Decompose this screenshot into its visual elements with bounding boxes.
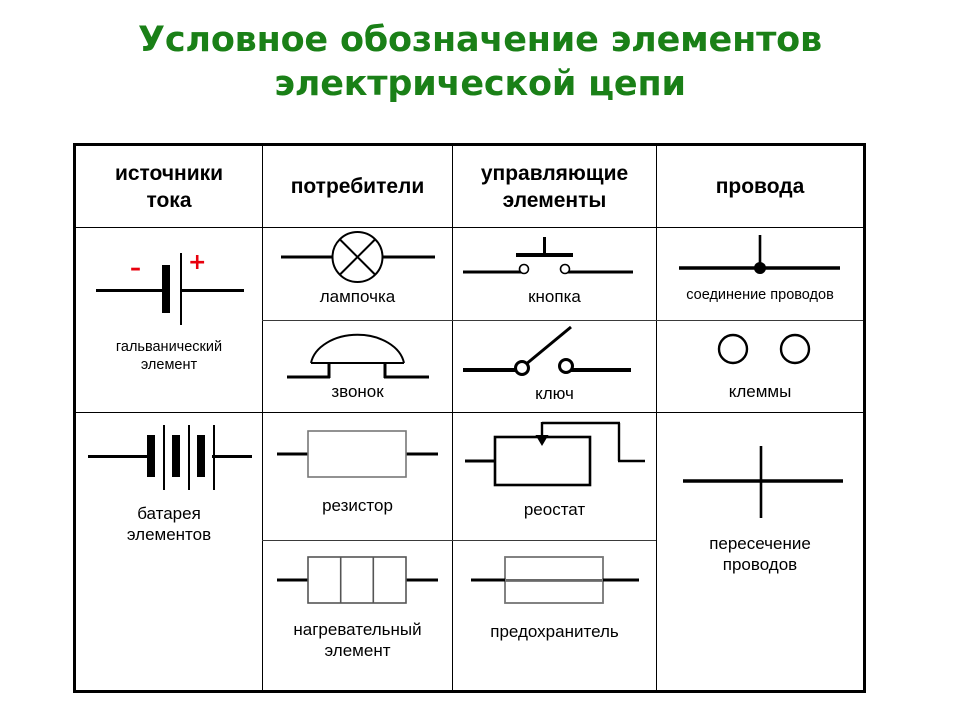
galvanic-element-symbol: – +: [76, 228, 262, 338]
battery-plate-thin-1: [163, 425, 165, 490]
resistor-icon: [263, 413, 452, 495]
cell-resistor: резистор: [263, 413, 452, 540]
fuse-caption-1: предохранитель: [453, 621, 656, 642]
battery-caption-2: элементов: [76, 524, 262, 545]
rheostat-icon: [453, 413, 656, 499]
galvanic-element-caption-2: элемент: [76, 356, 262, 374]
terminals-symbol: [657, 321, 863, 381]
wire-junction-caption-1: соединение проводов: [657, 286, 863, 304]
galvanic-lead-left: [96, 289, 162, 292]
header-label-current-sources-2: тока: [115, 187, 223, 214]
header-label-control-elements-1: управляющие: [481, 160, 628, 187]
header-label-wires-1: провода: [716, 173, 805, 200]
key-switch-icon: [453, 321, 656, 383]
galvanic-negative-plate: [162, 265, 170, 313]
battery-symbol: [76, 413, 262, 503]
cell-fuse: предохранитель: [453, 541, 656, 693]
resistor-caption-1: резистор: [263, 495, 452, 516]
resistor-symbol: [263, 413, 452, 495]
cell-heating-element: нагревательный элемент: [263, 541, 452, 693]
cell-wire-junction: соединение проводов: [657, 228, 863, 320]
page-title: Условное обозначение элементов электриче…: [0, 18, 960, 106]
wire-crossing-symbol: [657, 413, 863, 533]
cell-rheostat: реостат: [453, 413, 656, 540]
galvanic-lead-right: [182, 289, 244, 292]
galvanic-element-caption-1: гальванический: [76, 338, 262, 356]
header-cell-consumers: потребители: [263, 146, 452, 227]
battery-caption-1: батарея: [76, 503, 262, 524]
cell-lamp: лампочка: [263, 228, 452, 320]
heating-element-symbol: [263, 541, 452, 619]
lamp-symbol: [263, 228, 452, 286]
push-button-icon: [453, 228, 656, 286]
header-cell-control-elements: управляющие элементы: [453, 146, 656, 227]
header-label-current-sources-1: источники: [115, 160, 223, 187]
cell-galvanic-element: – + гальванический элемент: [76, 228, 262, 412]
cell-wire-crossing: пересечение проводов: [657, 413, 863, 693]
wire-crossing-caption-1: пересечение: [657, 533, 863, 554]
button-symbol: [453, 228, 656, 286]
page-title-line-1: Условное обозначение элементов: [0, 18, 960, 62]
lamp-caption-1: лампочка: [263, 286, 452, 307]
cell-key-switch: ключ: [453, 321, 656, 412]
rheostat-caption-1: реостат: [453, 499, 656, 520]
header-cell-current-sources: источники тока: [76, 146, 262, 227]
minus-sign: –: [130, 258, 141, 280]
heating-element-icon: [263, 541, 452, 619]
cell-battery: батарея элементов: [76, 413, 262, 693]
rheostat-symbol: [453, 413, 656, 499]
battery-lead-left: [88, 455, 148, 458]
bell-icon: [263, 321, 452, 381]
bell-symbol: [263, 321, 452, 381]
plus-sign: +: [188, 252, 206, 274]
bell-caption-1: звонок: [263, 381, 452, 402]
key-caption-1: ключ: [453, 383, 656, 404]
battery-plate-thick-1: [147, 435, 155, 477]
cell-bell: звонок: [263, 321, 452, 412]
wire-crossing-caption-2: проводов: [657, 554, 863, 575]
wire-junction-symbol: [657, 228, 863, 286]
heating-element-caption-2: элемент: [263, 640, 452, 661]
page-title-line-2: электрической цепи: [0, 62, 960, 106]
key-symbol: [453, 321, 656, 383]
cell-button-switch: кнопка: [453, 228, 656, 320]
terminals-caption-1: клеммы: [657, 381, 863, 402]
battery-plate-thick-2: [172, 435, 180, 477]
cell-terminals: клеммы: [657, 321, 863, 412]
fuse-symbol: [453, 541, 656, 621]
lamp-icon: [263, 228, 452, 286]
fuse-icon: [453, 541, 656, 621]
button-caption-1: кнопка: [453, 286, 656, 307]
wire-crossing-icon: [657, 413, 863, 533]
heating-element-caption-1: нагревательный: [263, 619, 452, 640]
terminals-icon: [657, 321, 863, 381]
battery-lead-right: [212, 455, 252, 458]
symbols-table: источники тока потребители управляющие э…: [73, 143, 866, 693]
header-label-control-elements-2: элементы: [481, 187, 628, 214]
wire-junction-icon: [657, 228, 863, 286]
battery-plate-thick-3: [197, 435, 205, 477]
header-cell-wires: провода: [657, 146, 863, 227]
header-label-consumers-1: потребители: [291, 173, 425, 200]
battery-plate-thin-2: [188, 425, 190, 490]
